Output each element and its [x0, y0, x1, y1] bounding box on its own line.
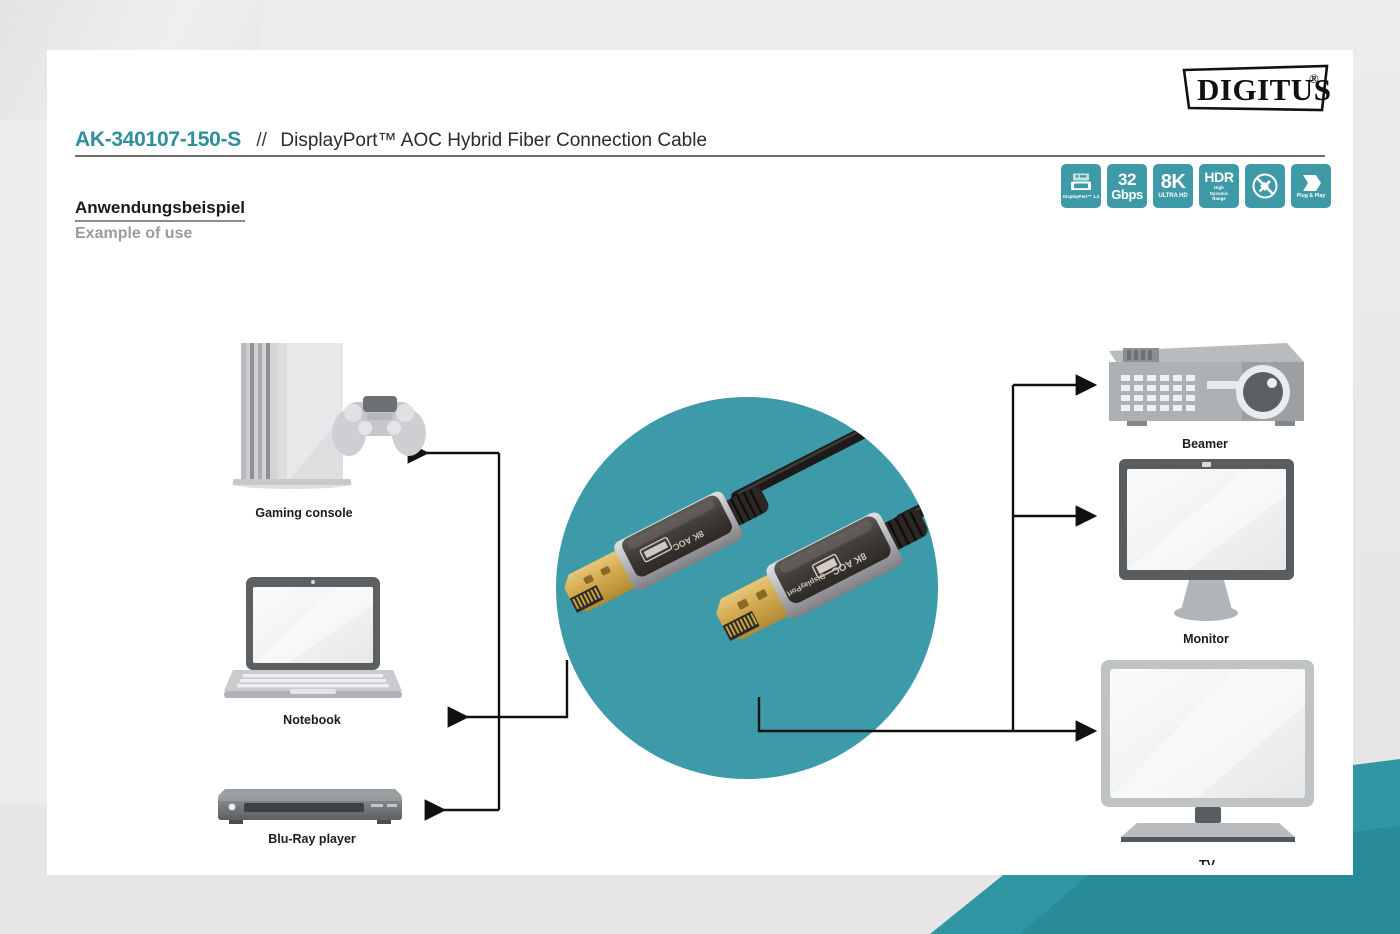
resolution-caption: ULTRA HD	[1158, 193, 1187, 200]
device-label-notebook: Notebook	[283, 713, 341, 727]
article-number: AK-340107-150-S	[75, 128, 241, 151]
hdr-value: HDR	[1204, 170, 1233, 185]
connection-lines-left	[410, 453, 567, 810]
section-heading-en: Example of use	[75, 225, 192, 243]
displayport-connector-icon	[1068, 172, 1094, 194]
crossed-out-plug-icon	[1250, 171, 1280, 201]
hdr-caption: High Dynamic Range	[1210, 185, 1228, 202]
device-monitor: Monitor	[1119, 459, 1294, 646]
device-label-monitor: Monitor	[1183, 632, 1229, 646]
title-separator: //	[256, 130, 267, 151]
displayport-badge-caption: DisplayPort™ 1.4	[1063, 194, 1099, 200]
product-title: DisplayPort™ AOC Hybrid Fiber Connection…	[280, 130, 707, 151]
device-gaming-console: Gaming console	[232, 343, 426, 520]
hdr-badge: HDR High Dynamic Range	[1199, 164, 1239, 208]
application-diagram: 8K AOC	[47, 265, 1353, 865]
feature-badge-row: DisplayPort™ 1.4 32 Gbps 8K ULTRA HD HDR…	[1061, 164, 1331, 208]
displayport-14-badge: DisplayPort™ 1.4	[1061, 164, 1101, 208]
device-notebook: Notebook	[224, 577, 402, 727]
device-bluray-player: Blu-Ray player	[218, 789, 402, 846]
bandwidth-badge: 32 Gbps	[1107, 164, 1147, 208]
arrow-icon	[1300, 173, 1322, 193]
section-heading-de: Anwendungsbeispiel	[75, 198, 245, 222]
game-controller	[332, 396, 426, 456]
product-title-row: AK-340107-150-S // DisplayPort™ AOC Hybr…	[75, 128, 1325, 157]
device-label-bluray-player: Blu-Ray player	[268, 832, 356, 846]
plug-and-play-badge: Plug & Play	[1291, 164, 1331, 208]
plug-and-play-caption: Plug & Play	[1297, 193, 1326, 200]
device-label-tv: TV	[1199, 858, 1216, 865]
bandwidth-value: 32	[1118, 171, 1136, 188]
resolution-value: 8K	[1161, 172, 1186, 192]
resolution-badge: 8K ULTRA HD	[1153, 164, 1193, 208]
device-tv: TV	[1101, 660, 1314, 865]
logo-registered-mark: ®	[1309, 71, 1319, 86]
bandwidth-unit: Gbps	[1111, 188, 1143, 202]
device-beamer: Beamer	[1109, 343, 1304, 451]
content-card: DIGITUS ® AK-340107-150-S // DisplayPort…	[47, 50, 1353, 875]
device-label-beamer: Beamer	[1182, 437, 1228, 451]
digitus-logo: DIGITUS ®	[1178, 64, 1333, 116]
no-power-supply-badge	[1245, 164, 1285, 208]
device-label-gaming-console: Gaming console	[255, 506, 352, 520]
